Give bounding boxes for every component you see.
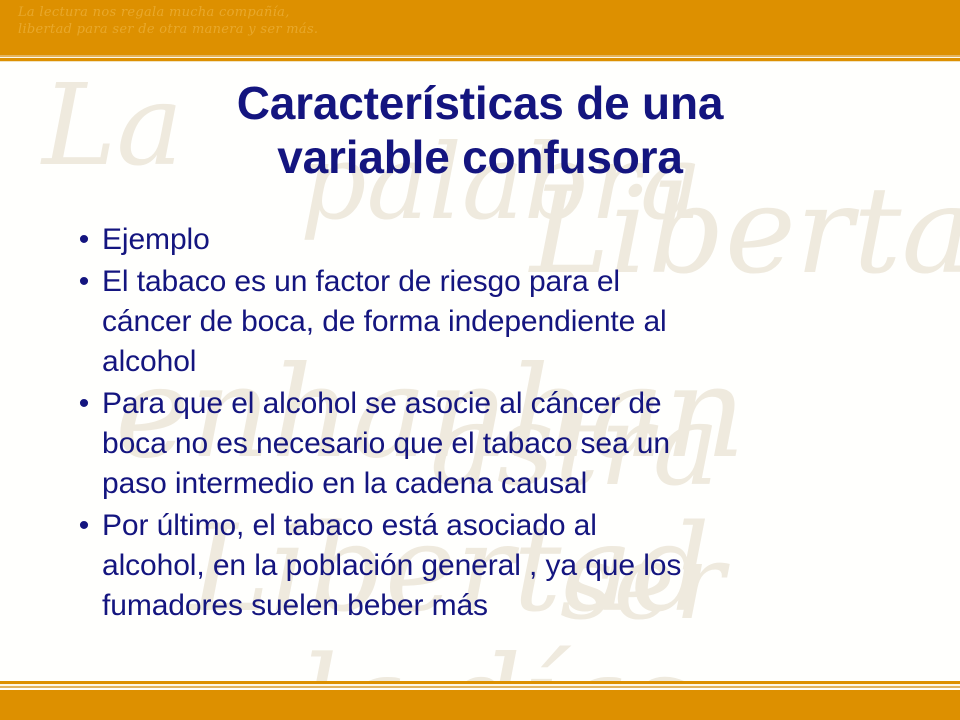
list-item: • Ejemplo <box>66 220 896 260</box>
list-item: • Para que el alcohol se asocie al cánce… <box>66 384 896 504</box>
list-item: • Por último, el tabaco está asociado al… <box>66 506 896 626</box>
bullet-dot-icon: • <box>66 506 102 546</box>
slide-title: Características de una variable confusor… <box>60 76 900 184</box>
footer-band <box>0 690 960 720</box>
bullet-dot-icon: • <box>66 384 102 424</box>
header-script-quote: La lectura nos regala mucha compañía, li… <box>18 4 658 38</box>
header-rule-light <box>0 61 960 62</box>
footer-rule-gold <box>0 686 960 688</box>
list-item-text: Para que el alcohol se asocie al cáncer … <box>102 384 896 504</box>
list-item-text: Por último, el tabaco está asociado al a… <box>102 506 896 626</box>
title-line-2: variable confusora <box>60 130 900 184</box>
bullet-dot-icon: • <box>66 220 102 260</box>
list-item-text: Ejemplo <box>102 220 896 260</box>
bullet-dot-icon: • <box>66 262 102 302</box>
list-item-text: El tabaco es un factor de riesgo para el… <box>102 262 896 382</box>
bullet-list: • Ejemplo • El tabaco es un factor de ri… <box>66 220 896 628</box>
list-item: • El tabaco es un factor de riesgo para … <box>66 262 896 382</box>
header-band: La lectura nos regala mucha compañía, li… <box>0 0 960 55</box>
watermark-word: la días <box>300 640 690 684</box>
slide-canvas: La palabra Libertad enhanhan astra Liber… <box>0 0 960 720</box>
title-line-1: Características de una <box>60 76 900 130</box>
